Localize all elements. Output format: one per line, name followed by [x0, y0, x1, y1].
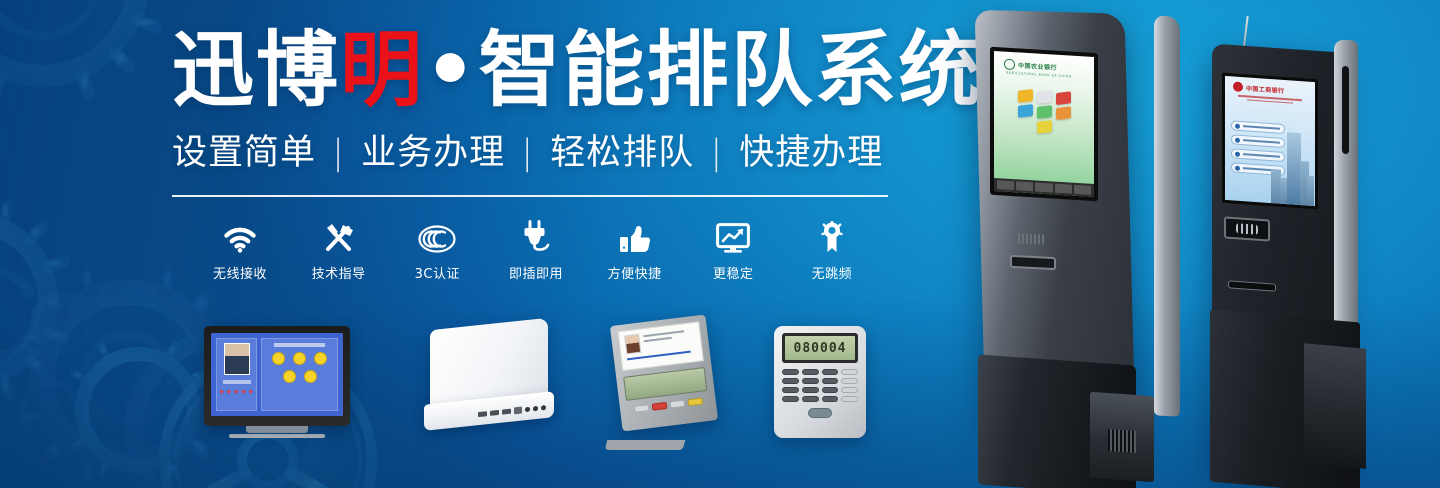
service-tile[interactable] [1037, 90, 1052, 104]
monitor-rating-panel [261, 338, 338, 411]
kiosk-vent-grille [1108, 429, 1136, 453]
feature-label: 无线接收 [194, 263, 286, 282]
bank-logo-icon [1004, 59, 1015, 71]
port [490, 410, 499, 416]
product-calling-keypad: 080004 [768, 326, 872, 442]
title-part-1: 迅博 [172, 23, 340, 118]
keypad-key[interactable] [841, 387, 858, 393]
tools-icon [293, 213, 385, 253]
host-port-row [478, 404, 546, 418]
card-reader-icon [1236, 223, 1258, 235]
port [502, 409, 511, 415]
keypad-key[interactable] [822, 369, 839, 375]
kiosk-side-edge [1154, 15, 1180, 416]
keypad-key[interactable] [782, 378, 799, 384]
toolbar-button[interactable] [1074, 185, 1091, 195]
feature-label: 无跳频 [786, 263, 878, 282]
title-dot-separator: • [424, 23, 478, 118]
kiosk-screen-bezel: 中国工商银行 [1222, 73, 1318, 210]
staff-name-line [223, 380, 251, 384]
subtitle-item-4: 快捷办理 [739, 133, 883, 173]
product-desktop-evaluator [604, 320, 726, 442]
monitor-screen: ★★★★★ [211, 333, 343, 416]
monitor-base [229, 434, 325, 438]
evaluator-body [610, 315, 718, 432]
ticket-printer-slot [1010, 255, 1056, 270]
keypad-key[interactable] [802, 387, 819, 393]
monitor-stand [246, 426, 308, 433]
feature-label: 技术指导 [293, 263, 385, 282]
bank-logo-icon [1233, 81, 1243, 92]
toolbar-button[interactable] [1055, 184, 1072, 194]
round-port [525, 407, 530, 413]
bank-name: 中国农业银行 [1018, 60, 1057, 71]
monitor-body: ★★★★★ [204, 326, 350, 426]
headline-block: 迅博明•智能排队系统 设置简单 | 业务办理 | 轻松排队 | 快捷办理 [172, 30, 912, 282]
kiosk-display[interactable]: 中国农业银行 AGRICULTURAL BANK OF CHINA [994, 51, 1094, 197]
toolbar-button[interactable] [997, 180, 1014, 190]
building [1307, 176, 1314, 206]
service-tile[interactable] [1037, 105, 1052, 119]
keypad-key[interactable] [782, 369, 799, 375]
feature-label: 方便快捷 [589, 263, 681, 282]
keypad-key[interactable] [822, 378, 839, 384]
subtitle-separator-2: | [517, 133, 538, 173]
keypad-button-grid [782, 369, 858, 402]
divider-rule [172, 195, 888, 197]
queue-kiosk-green: 中国农业银行 AGRICULTURAL BANK OF CHINA [966, 12, 1166, 488]
feature-label: 即插即用 [490, 263, 582, 282]
product-white-host-controller [424, 324, 554, 442]
kiosk-bottom-toolbar [994, 178, 1094, 197]
toolbar-button[interactable] [1035, 182, 1052, 192]
emoji-face[interactable] [314, 352, 327, 365]
evaluator-id-card [618, 321, 704, 371]
building [1287, 132, 1301, 205]
monitor-chart-icon [687, 213, 779, 253]
keypad-call-button[interactable] [808, 408, 832, 418]
product-showcase: ★★★★★ [0, 318, 900, 468]
emoji-face[interactable] [283, 370, 296, 383]
port [478, 411, 487, 417]
page-title: 迅博明•智能排队系统 [172, 30, 912, 112]
card-reader[interactable] [1224, 216, 1270, 241]
feature-item-ccc: 3C认证 [391, 213, 483, 282]
keypad-key[interactable] [782, 396, 799, 402]
award-ribbon-icon [786, 213, 878, 253]
feature-item-convenient: 方便快捷 [589, 213, 681, 282]
subtitle-item-1: 设置简单 [172, 133, 316, 173]
skyline-graphic [1271, 121, 1313, 206]
service-tile[interactable] [1018, 104, 1033, 118]
queue-kiosk-blue: 中国工商银行 [1206, 20, 1406, 488]
staff-photo [224, 343, 250, 375]
staff-avatar [624, 334, 641, 355]
feature-item-plug-and-play: 即插即用 [490, 213, 582, 282]
wifi-icon [194, 213, 286, 253]
emoji-face[interactable] [304, 370, 317, 383]
keypad-lcd: 080004 [785, 336, 855, 360]
keypad-screen-bezel: 080004 [782, 333, 858, 363]
ethernet-port [514, 407, 522, 415]
subtitle-item-2: 业务办理 [361, 133, 505, 173]
evaluator-key[interactable] [669, 400, 685, 409]
service-tile[interactable] [1056, 106, 1071, 120]
title-part-2: 智能排队系统 [478, 23, 982, 118]
evaluator-key[interactable] [633, 404, 649, 413]
keypad-key[interactable] [802, 378, 819, 384]
keypad-body: 080004 [774, 326, 866, 438]
kiosk-service-tiles [994, 88, 1094, 136]
tile-row [1037, 121, 1052, 134]
feature-list: 无线接收 技术指导 [172, 213, 888, 282]
title-accent-character: 明 [340, 23, 424, 118]
keypad-key[interactable] [822, 387, 839, 393]
evaluator-lcd [623, 367, 707, 401]
rating-stars: ★★★★★ [219, 389, 255, 396]
feature-label: 更稳定 [687, 263, 779, 282]
evaluator-key-yellow[interactable] [687, 398, 703, 407]
keypad-key[interactable] [841, 369, 858, 375]
evaluator-stand [605, 440, 685, 450]
service-tile[interactable] [1056, 91, 1071, 105]
thumbs-up-icon [589, 213, 681, 253]
printer-label-icon [1018, 233, 1044, 244]
keypad-key[interactable] [822, 396, 839, 402]
tile-row [1018, 104, 1071, 119]
emoji-rating-group [264, 352, 335, 383]
bank-name: 中国工商银行 [1246, 83, 1284, 95]
subtitle-item-3: 轻松排队 [550, 133, 694, 173]
keypad-key[interactable] [802, 369, 819, 375]
emoji-face[interactable] [272, 352, 285, 365]
feature-item-wireless: 无线接收 [194, 213, 286, 282]
service-tile[interactable] [1018, 89, 1033, 103]
toolbar-button[interactable] [1016, 181, 1033, 191]
keypad-display-number: 080004 [794, 341, 847, 356]
emoji-face[interactable] [293, 352, 306, 365]
feature-item-tech-support: 技术指导 [293, 213, 385, 282]
feature-item-no-frequency-hopping: 无跳频 [786, 213, 878, 282]
kiosk-base-slab [1304, 343, 1366, 468]
power-plug-icon [490, 213, 582, 253]
evaluator-key-red[interactable] [651, 402, 667, 411]
feature-label: 3C认证 [391, 263, 483, 282]
tile-row [1018, 89, 1071, 104]
keypad-key[interactable] [841, 396, 858, 402]
round-port [533, 406, 538, 412]
product-evaluation-monitor: ★★★★★ [204, 326, 350, 438]
keypad-key[interactable] [802, 396, 819, 402]
service-tile[interactable] [1037, 120, 1052, 134]
subtitle: 设置简单 | 业务办理 | 轻松排队 | 快捷办理 [172, 134, 878, 173]
kiosk-screen-bezel: 中国农业银行 AGRICULTURAL BANK OF CHINA [990, 47, 1098, 202]
rating-question-line [274, 343, 325, 347]
kiosk-speaker-grille [1342, 66, 1349, 154]
subtitle-separator-3: | [706, 133, 727, 173]
ccc-certification-icon [391, 213, 483, 253]
feature-item-stable: 更稳定 [687, 213, 779, 282]
kiosk-display[interactable]: 中国工商银行 [1225, 76, 1315, 206]
evaluator-keypad [627, 397, 709, 414]
staff-info-lines [643, 327, 696, 352]
keypad-key[interactable] [782, 387, 799, 393]
keypad-key[interactable] [841, 378, 858, 384]
subtitle-separator-1: | [328, 133, 349, 173]
round-port [541, 405, 546, 411]
monitor-staff-panel: ★★★★★ [216, 338, 257, 411]
promo-banner: 迅博明•智能排队系统 设置简单 | 业务办理 | 轻松排队 | 快捷办理 [0, 0, 1440, 488]
